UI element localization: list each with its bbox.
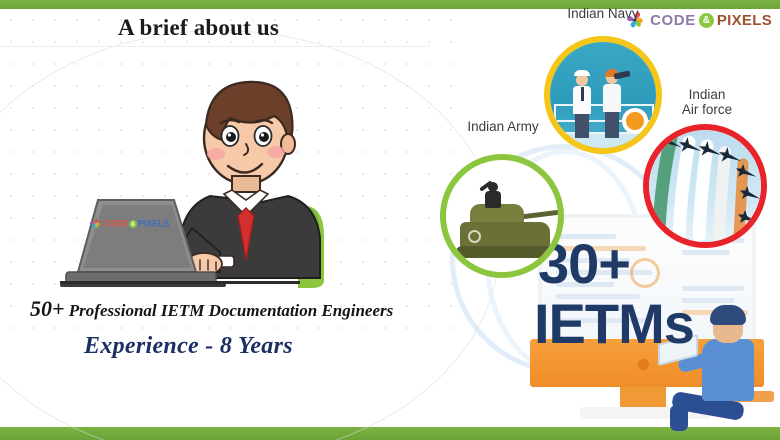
tank-insignia-icon — [468, 230, 481, 243]
header-divider — [0, 46, 430, 47]
laptop-logo-amp: & — [129, 220, 137, 228]
document-badge-icon — [630, 258, 660, 288]
laptop-logo-code: CODE — [103, 219, 129, 229]
slide-canvas: A brief about us CODE & PIXELS — [0, 0, 780, 440]
engineers-count: 50+ — [30, 296, 65, 321]
sailor-one-cap — [574, 70, 590, 76]
branch-airforce-label: Indian Air force — [662, 87, 752, 117]
person-hair — [710, 305, 746, 325]
sailor-two-body — [603, 84, 621, 112]
jets-formation-graphic — [649, 130, 767, 248]
branch-navy-label: Indian Navy — [535, 6, 671, 21]
branch-army-label: Indian Army — [438, 119, 568, 134]
right-composition: 30+ IETMs Indian Army Indian Navy — [430, 9, 780, 427]
page-title: A brief about us — [118, 15, 279, 41]
businessman-illustration: CODE & PIXELS — [60, 78, 390, 288]
person-shin — [670, 405, 688, 431]
branch-navy-circle — [544, 36, 662, 154]
laptop-logo-pixels: PIXELS — [138, 219, 169, 229]
ship-deck — [550, 132, 656, 148]
branch-airforce-label-line1: Indian — [689, 87, 726, 102]
monitor-neck — [620, 387, 666, 409]
person-body — [702, 339, 754, 401]
experience-line: Experience - 8 Years — [84, 333, 293, 360]
branch-army-circle — [440, 154, 564, 278]
life-preserver-icon — [622, 108, 648, 134]
laptop-screen-logo: CODE & PIXELS — [88, 217, 169, 231]
sailor-two-legs — [605, 110, 619, 138]
branch-airforce-label-line2: Air force — [682, 102, 732, 117]
ietm-count-label: IETMs — [534, 297, 694, 350]
sailor-one-tie — [581, 87, 584, 101]
engineers-stat-line: 50+ Professional IETM Documentation Engi… — [30, 296, 430, 322]
sailor-one-legs — [575, 112, 589, 138]
tank-gun — [518, 209, 564, 220]
monitor-knob — [638, 359, 649, 370]
engineers-label: Professional IETM Documentation Engineer… — [65, 301, 394, 320]
branch-airforce-circle — [643, 124, 767, 248]
soldier-body — [485, 191, 501, 208]
tank-track — [456, 246, 554, 258]
